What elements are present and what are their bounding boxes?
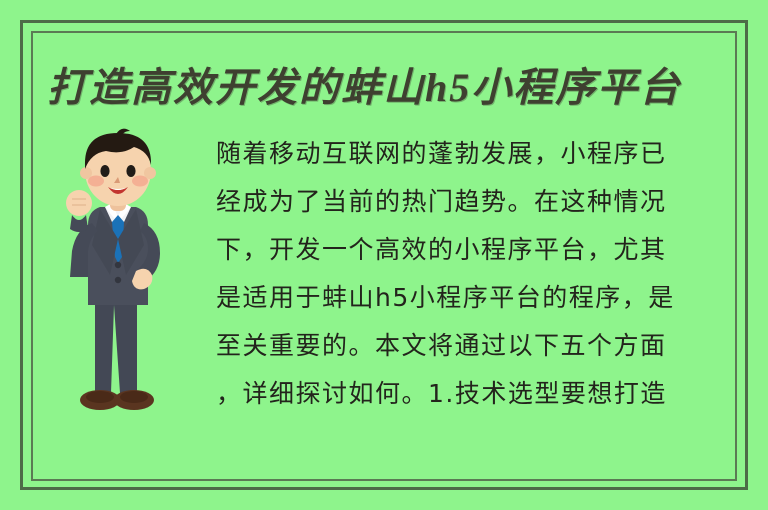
sleeve-cuff-left xyxy=(70,215,88,232)
fist-left xyxy=(66,190,92,216)
body-line: ，详细探讨如何。1.技术选型要想打造 xyxy=(216,370,726,418)
body-line: 至关重要的。本文将通过以下五个方面 xyxy=(216,322,726,370)
eye-right xyxy=(126,165,135,177)
body-line: 经成为了当前的热门趋势。在这种情况 xyxy=(216,178,726,226)
shoe-right-detail xyxy=(120,391,148,403)
jacket-button xyxy=(115,262,121,268)
eye-left xyxy=(100,165,109,177)
poster-canvas: 打造高效开发的蚌山h5小程序平台 随着移动互联网的蓬勃发展，小程序已 经成为了当… xyxy=(0,0,768,510)
jacket-button xyxy=(115,277,121,283)
cheek-right xyxy=(132,176,148,187)
cheek-left xyxy=(88,176,104,187)
shoe-left-detail xyxy=(86,391,114,403)
body-line: 是适用于蚌山h5小程序平台的程序，是 xyxy=(216,274,726,322)
ear-left xyxy=(80,167,92,179)
body-text: 随着移动互联网的蓬勃发展，小程序已 经成为了当前的热门趋势。在这种情况 下，开发… xyxy=(216,130,726,418)
body-line: 随着移动互联网的蓬勃发展，小程序已 xyxy=(216,130,726,178)
businessman-illustration xyxy=(48,125,188,425)
trousers-shape xyxy=(95,293,137,393)
ear-right xyxy=(144,167,156,179)
page-title: 打造高效开发的蚌山h5小程序平台 xyxy=(47,62,707,118)
body-line: 下，开发一个高效的小程序平台，尤其 xyxy=(216,226,726,274)
